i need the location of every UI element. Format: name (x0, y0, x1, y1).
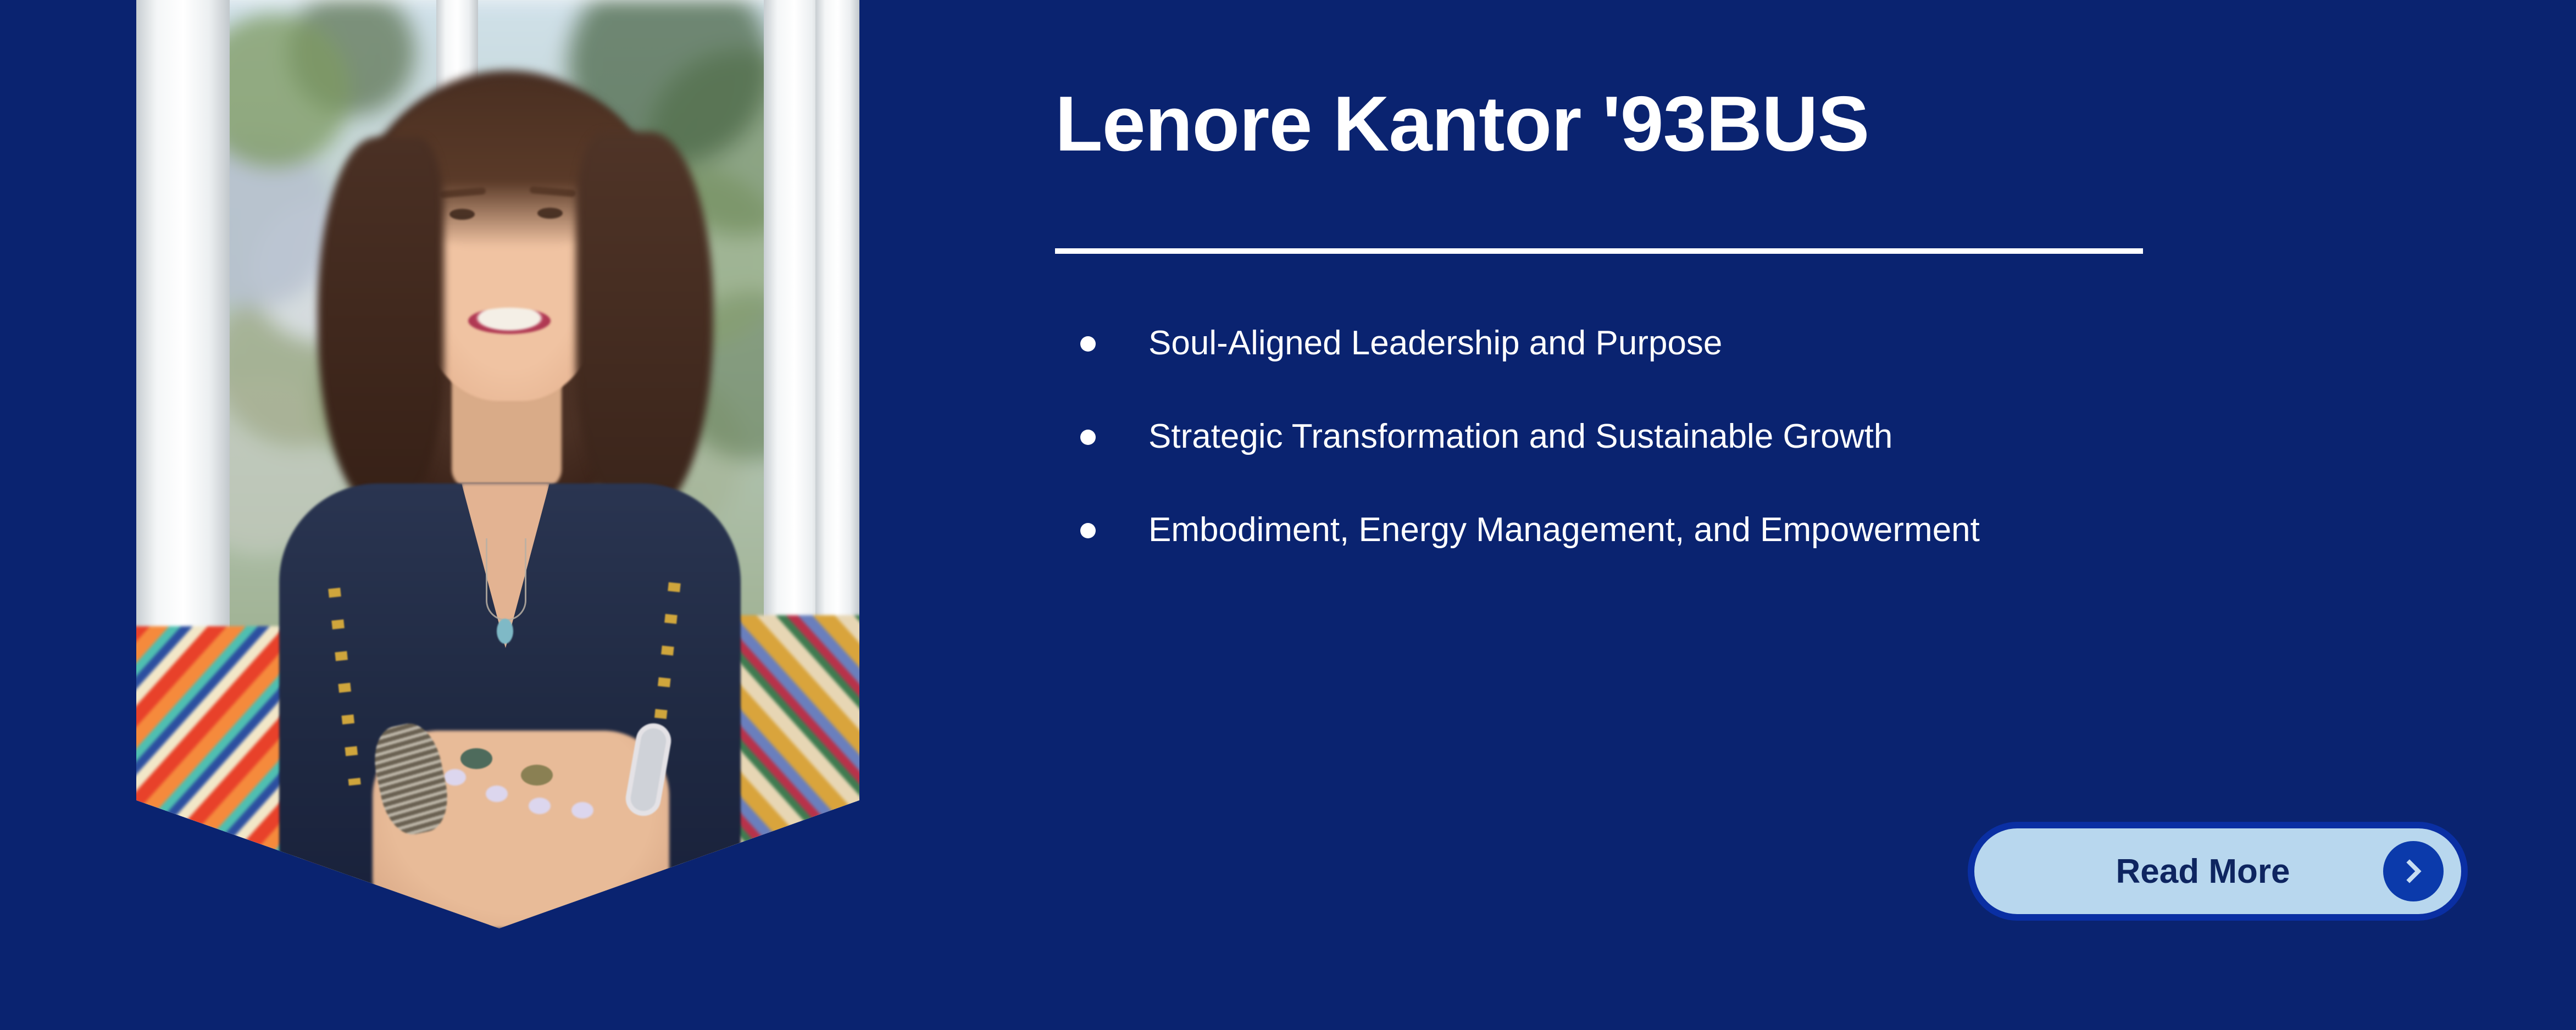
window-frame-right (815, 0, 859, 714)
mouth-smile (468, 308, 551, 334)
page-title: Lenore Kantor '93BUS (1055, 85, 1869, 163)
ring-oval (521, 765, 553, 786)
fingernail (571, 802, 593, 819)
fingernail (529, 798, 551, 814)
necklace-chain (486, 538, 526, 621)
list-item: Strategic Transformation and Sustainable… (1055, 390, 2154, 483)
hair-left (318, 137, 444, 511)
highlight-list: Soul-Aligned Leadership and Purpose Stra… (1055, 297, 2319, 577)
fingernail (486, 786, 508, 802)
content-panel: Lenore Kantor '93BUS Soul-Aligned Leader… (1055, 0, 2473, 1030)
list-item-label: Embodiment, Energy Management, and Empow… (1148, 511, 1980, 549)
list-item: Embodiment, Energy Management, and Empow… (1055, 483, 2154, 577)
list-item: Soul-Aligned Leadership and Purpose (1055, 297, 2154, 390)
window-frame-left (136, 0, 230, 714)
portrait-photo (136, 0, 859, 928)
hair-right (576, 132, 713, 516)
fingernail (444, 769, 466, 786)
title-divider (1055, 248, 2143, 254)
alumni-spotlight-card: Lenore Kantor '93BUS Soul-Aligned Leader… (0, 0, 2576, 1030)
ring-large (460, 748, 492, 769)
chevron-right-icon[interactable] (2383, 841, 2444, 901)
read-more-label: Read More (2116, 852, 2290, 891)
read-more-button[interactable]: Read More (1968, 822, 2468, 921)
portrait-image (136, 0, 859, 928)
necklace-pendant (497, 619, 513, 644)
list-item-label: Strategic Transformation and Sustainable… (1148, 417, 1892, 455)
list-item-label: Soul-Aligned Leadership and Purpose (1148, 324, 1722, 362)
